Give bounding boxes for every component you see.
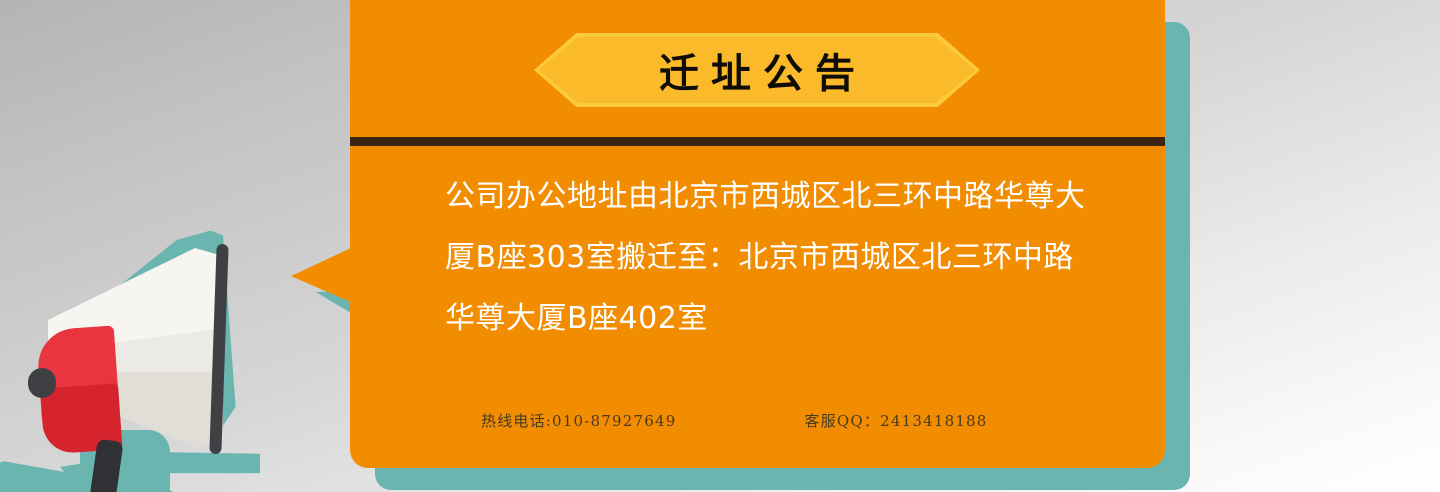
title-ribbon: 迁址公告 [534,33,980,107]
divider-line [350,137,1165,146]
hotline-phone: 热线电话:010-87927649 [481,410,677,431]
megaphone-illustration [0,190,300,492]
megaphone-knob [28,368,56,398]
service-qq: 客服QQ：2413418188 [805,410,988,431]
contact-footer: 热线电话:010-87927649 客服QQ：2413418188 [445,410,1105,431]
announcement-body-text: 公司办公地址由北京市西城区北三环中路华尊大厦B座303室搬迁至：北京市西城区北三… [445,166,1093,349]
banner-title: 迁址公告 [534,33,980,107]
announcement-banner-stage: 迁址公告 公司办公地址由北京市西城区北三环中路华尊大厦B座303室搬迁至：北京市… [0,0,1440,492]
